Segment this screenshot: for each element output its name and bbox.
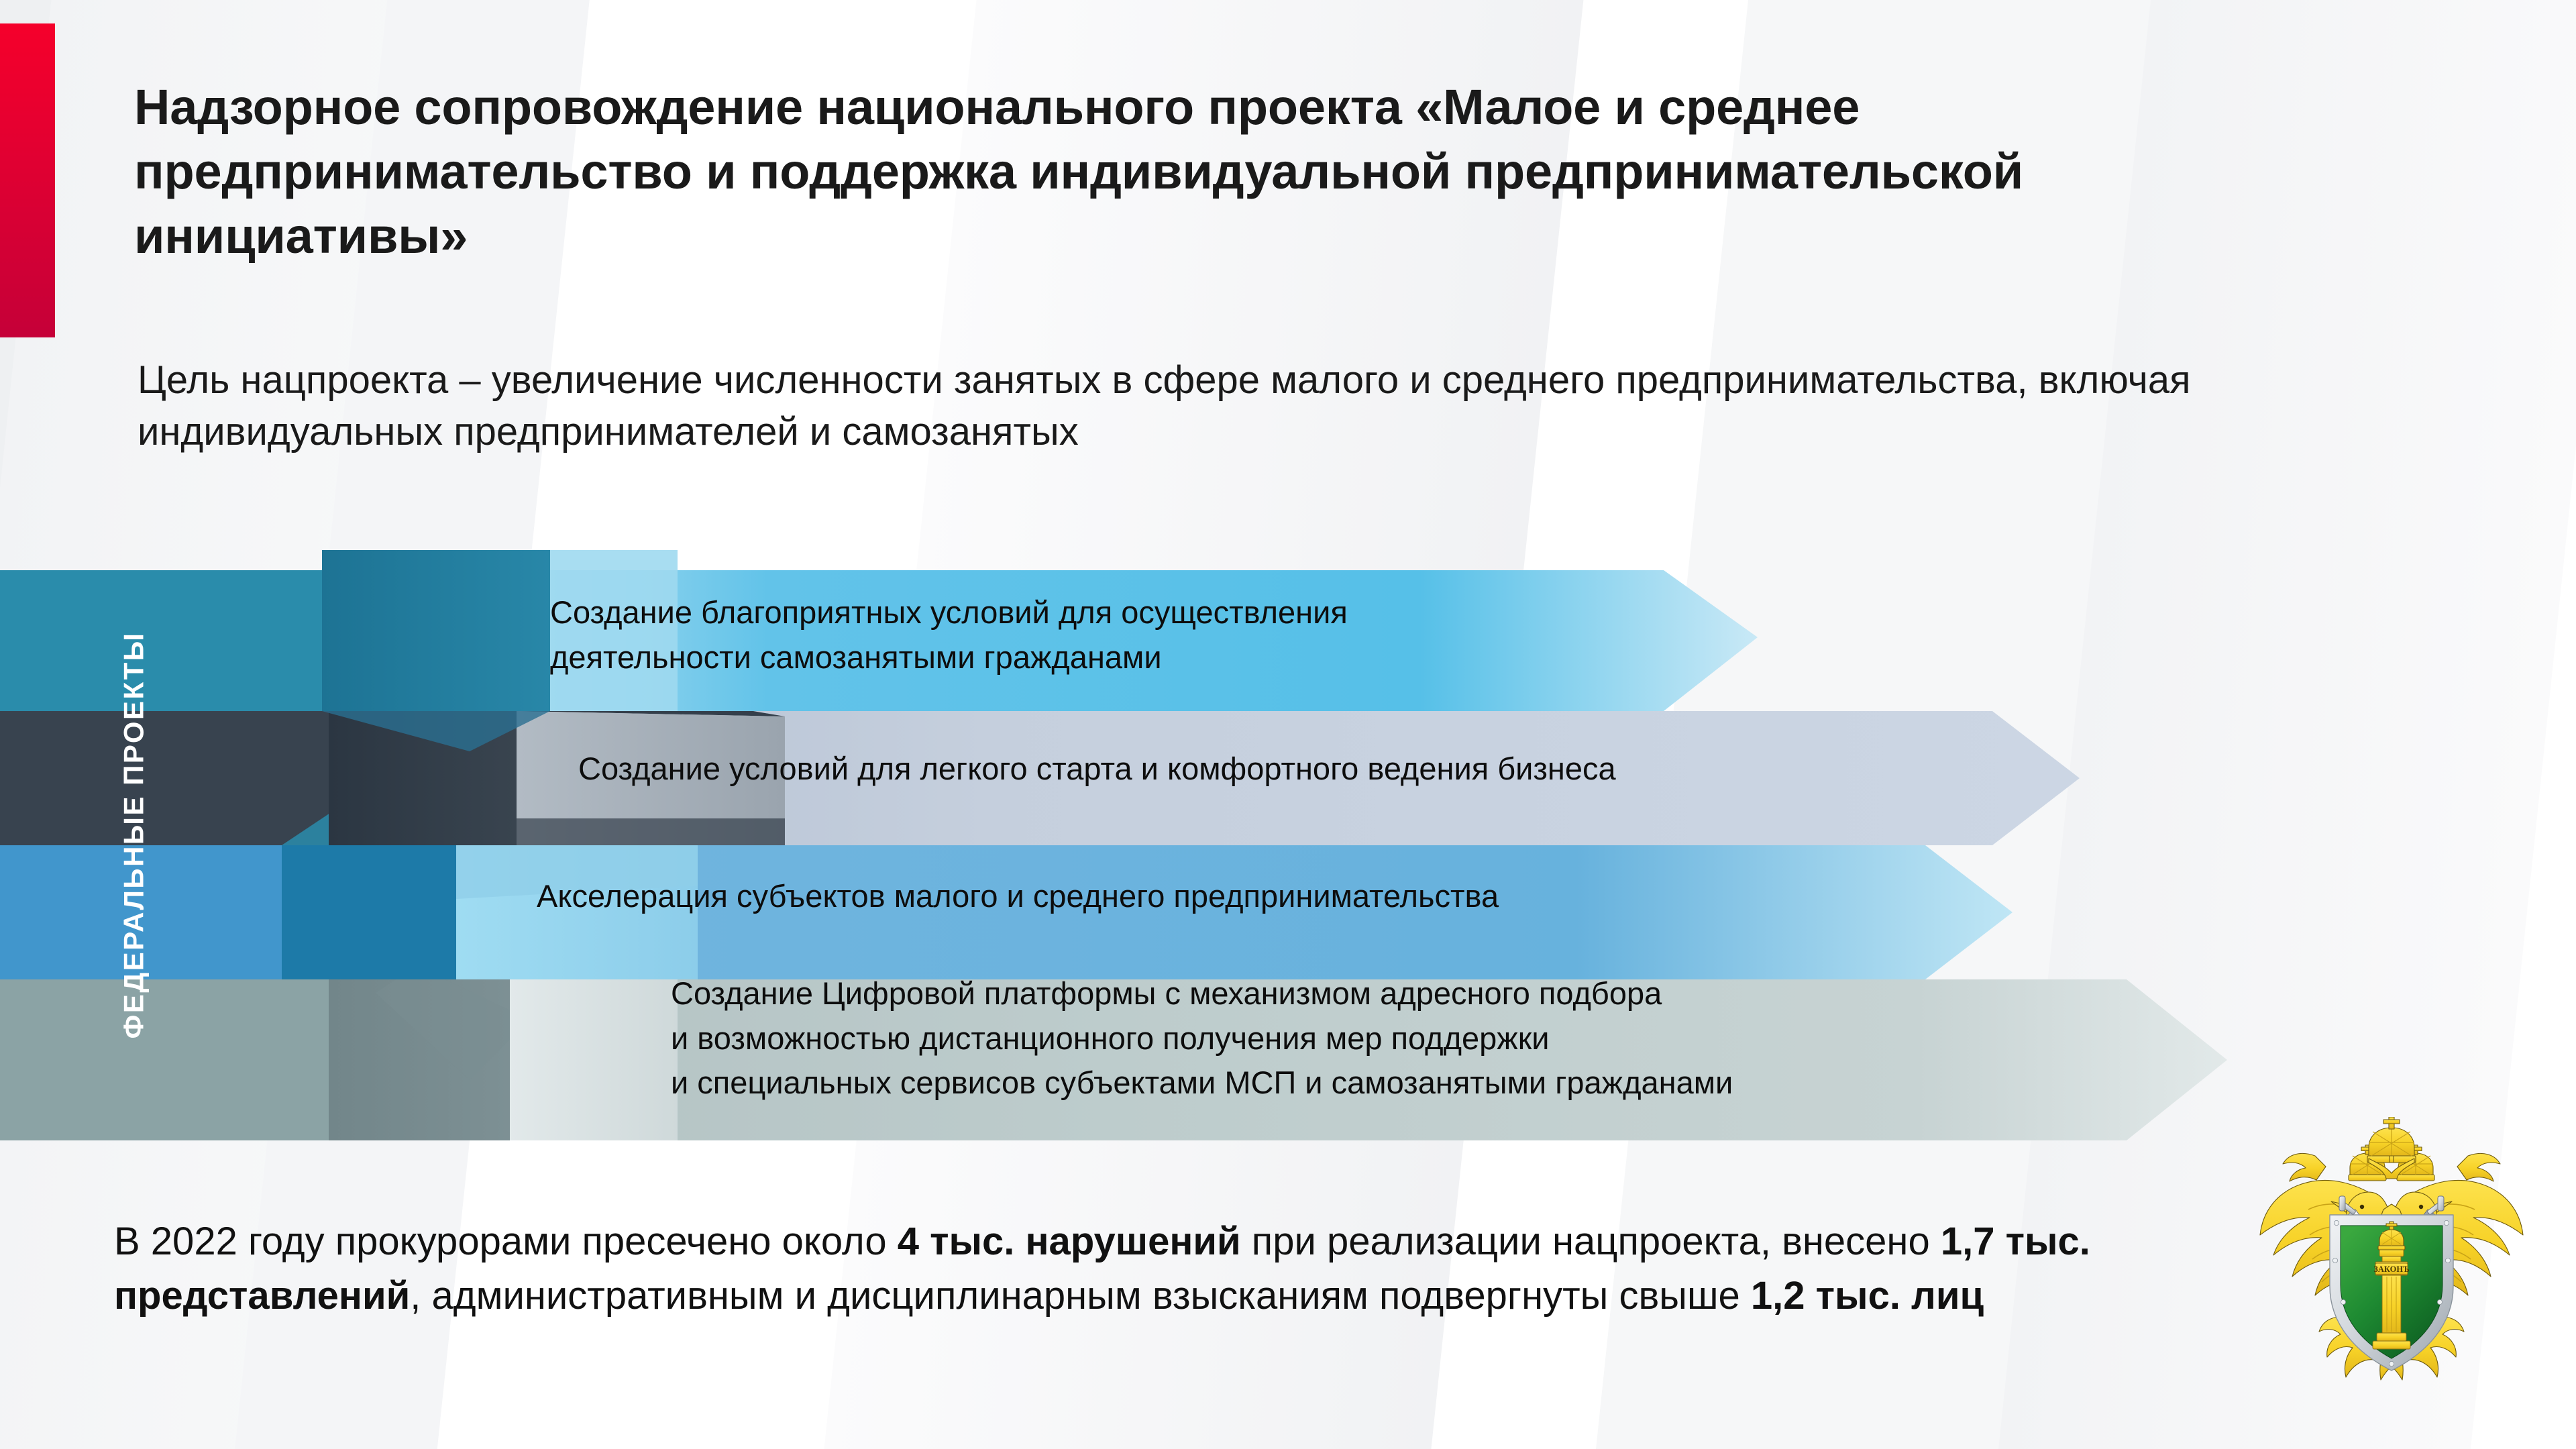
red-accent-bar	[0, 23, 55, 337]
law-plaque-text: ЗАКОНЪ	[2373, 1265, 2409, 1274]
federal-projects-diagram	[0, 550, 2576, 1140]
arrow-shape-4	[510, 979, 2227, 1140]
eagle-ribbon-left	[2283, 1153, 2326, 1181]
eagle-eye-left	[2360, 1205, 2364, 1209]
footer-highlight: 4 тыс. нарушений	[898, 1220, 1241, 1263]
arrow-3d-face-3	[282, 845, 456, 979]
slide-root: Надзорное сопровождение национального пр…	[0, 0, 2576, 1449]
arrow-3d-side-4	[510, 979, 678, 1140]
footer-plain: В 2022 году прокурорами пресечено около	[114, 1220, 898, 1263]
arrow-3d-shadow-2	[517, 818, 785, 845]
footer-plain: при реализации нацпроекта, внесено	[1241, 1220, 1941, 1263]
footer-plain: , административным и дисциплинарным взыс…	[410, 1274, 1751, 1318]
prosecutor-general-office-emblem: ЗАКОНЪ	[2251, 1117, 2532, 1399]
slide-title: Надзорное сопровождение национального пр…	[134, 75, 2281, 269]
slide-subtitle: Цель нацпроекта – увеличение численности…	[138, 354, 2251, 458]
footer-statistics-text: В 2022 году прокурорами пресечено около …	[114, 1214, 2227, 1323]
arrow-shape-1	[550, 570, 1758, 711]
crown-center	[2367, 1117, 2416, 1163]
eagle-eye-right	[2419, 1205, 2423, 1209]
footer-highlight: 1,2 тыс. лиц	[1751, 1274, 1984, 1318]
eagle-ribbon-right	[2457, 1153, 2500, 1181]
arrow-3d-side-1	[550, 550, 678, 711]
arrow-3d-face-1	[322, 550, 550, 711]
